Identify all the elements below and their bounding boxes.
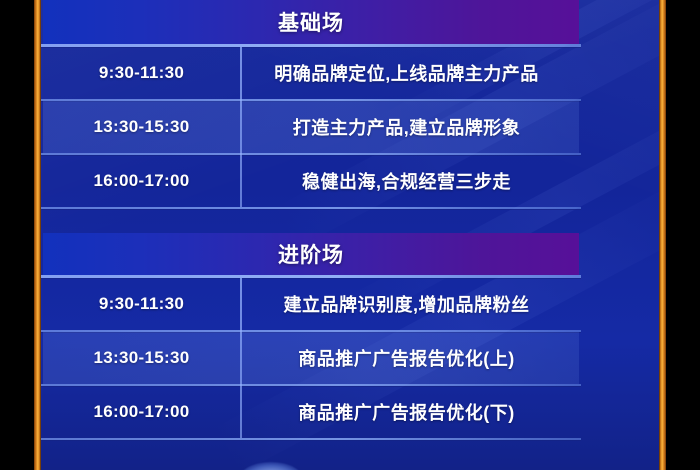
table-row[interactable]: 13:30-15:30 打造主力产品,建立品牌形象 [43, 101, 579, 153]
cell-time: 9:30-11:30 [43, 63, 240, 83]
table-row[interactable]: 9:30-11:30 建立品牌识别度,增加品牌粉丝 [43, 278, 579, 330]
promo-poster: 基础场 9:30-11:30 明确品牌定位,上线品牌主力产品 13:30-15:… [0, 0, 700, 470]
cell-topic: 商品推广广告报告优化(下) [240, 399, 579, 425]
cell-time: 9:30-11:30 [43, 294, 240, 314]
schedule-table-basic: 9:30-11:30 明确品牌定位,上线品牌主力产品 13:30-15:30 打… [43, 47, 579, 207]
section-title-basic: 基础场 [278, 7, 344, 37]
glow-circle-decoration [239, 462, 303, 470]
section-title-advanced: 进阶场 [278, 239, 344, 269]
table-row[interactable]: 13:30-15:30 商品推广广告报告优化(上) [43, 332, 579, 384]
section-rule-bottom [41, 438, 581, 440]
table-row[interactable]: 9:30-11:30 明确品牌定位,上线品牌主力产品 [43, 47, 579, 99]
schedule-section-basic: 基础场 9:30-11:30 明确品牌定位,上线品牌主力产品 13:30-15:… [43, 0, 579, 209]
cell-topic: 明确品牌定位,上线品牌主力产品 [240, 60, 579, 86]
cell-time: 13:30-15:30 [43, 117, 240, 137]
section-rule-bottom [41, 207, 581, 209]
schedule-section-advanced: 进阶场 9:30-11:30 建立品牌识别度,增加品牌粉丝 13:30-15:3… [43, 233, 579, 440]
schedule-table-advanced: 9:30-11:30 建立品牌识别度,增加品牌粉丝 13:30-15:30 商品… [43, 278, 579, 438]
cell-time: 13:30-15:30 [43, 348, 240, 368]
cell-topic: 建立品牌识别度,增加品牌粉丝 [240, 291, 579, 317]
table-row[interactable]: 16:00-17:00 稳健出海,合规经营三步走 [43, 155, 579, 207]
cell-topic: 打造主力产品,建立品牌形象 [240, 114, 579, 140]
gold-frame-line-right [659, 0, 666, 470]
cell-time: 16:00-17:00 [43, 402, 240, 422]
cell-topic: 商品推广广告报告优化(上) [240, 345, 579, 371]
cell-topic: 稳健出海,合规经营三步走 [240, 168, 579, 194]
section-header-basic: 基础场 [43, 0, 579, 44]
gold-frame-line-left [34, 0, 41, 470]
cell-time: 16:00-17:00 [43, 171, 240, 191]
table-row[interactable]: 16:00-17:00 商品推广广告报告优化(下) [43, 386, 579, 438]
section-header-advanced: 进阶场 [43, 233, 579, 275]
